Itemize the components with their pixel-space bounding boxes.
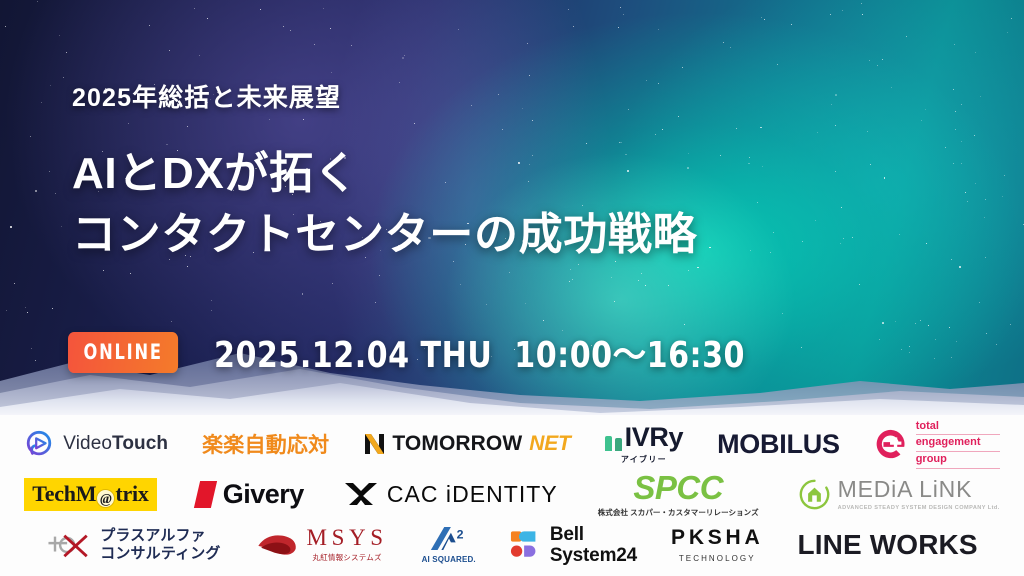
logo-pksha-technology[interactable]: PKSHA TECHNOLOGY [671,527,763,563]
logo-teg-line-1: total [916,420,1000,436]
at-sign-icon: @ [96,489,115,508]
logo-spcc-text: SPCC [633,471,723,504]
logo-techmatrix[interactable]: TechM@trix [24,478,156,511]
logo-techmatrix-text: TechM@trix [32,481,148,508]
red-slash-icon [194,481,217,508]
logo-media-link-text-block: MEDiA LiNK ADVANCED STEADY SYSTEM DESIGN… [838,478,1000,511]
logo-line-works[interactable]: LINE WORKS [797,529,977,561]
hero-title: AIとDXが拓く コンタクトセンターの成功戦略 [72,144,697,265]
logo-media-link-text: MEDiA LiNK [838,478,1000,501]
logo-givery[interactable]: Givery [197,479,304,510]
hero-kicker: 2025年総括と未来展望 [72,78,697,114]
logo-spcc-sub: 株式会社 スカパー・カスタマーリレーションズ [598,507,759,518]
sponsor-row-3: プラスアルファ コンサルティング MSYS 丸紅情報システムズ [0,520,1024,570]
logo-teg-line-3: group [916,453,1000,469]
logo-msys[interactable]: MSYS 丸紅情報システムズ [255,526,388,563]
a-squared-icon: 2 [428,525,470,552]
logo-total-engagement-group[interactable]: total engagement group [874,420,1000,469]
hero-title-line2: コンタクトセンターの成功戦略 [72,205,697,266]
plus-x-icon [46,531,92,559]
logo-msys-text-block: MSYS 丸紅情報システムズ [307,526,388,563]
event-datetime: 2025.12.04 THU 10:00〜16:30 [214,326,745,378]
logo-media-link[interactable]: MEDiA LiNK ADVANCED STEADY SYSTEM DESIGN… [799,478,1000,511]
logo-net-text: NET [529,432,570,456]
logo-tomorrow-net[interactable]: TOMORROW NET [363,432,570,456]
logo-videotouch-text: VideoTouch [63,433,168,455]
online-badge: ONLINE [68,332,178,373]
logo-mobilus[interactable]: MOBILUS [717,429,840,460]
logo-ai-squared[interactable]: 2 AI SQUARED. [422,525,476,564]
hero-text-block: 2025年総括と未来展望 AIとDXが拓く コンタクトセンターの成功戦略 [72,78,697,265]
sponsor-row-2: TechM@trix Givery CAC iDENTITY SPCC 株式会社… [0,469,1024,519]
leaf-icon [615,438,622,451]
logo-pksha-text: PKSHA [671,527,763,548]
logo-msys-sub: 丸紅情報システムズ [312,552,381,563]
e-plus-icon [874,427,908,461]
logo-bell-text: Bell System24 [550,524,637,567]
leaf-icon [605,436,612,451]
logo-plus-alpha-consulting[interactable]: プラスアルファ コンサルティング [46,527,220,564]
logo-rakuraku-jidou-outai[interactable]: 楽楽自動応対 [202,429,329,459]
logo-plus-alpha-line2: コンサルティング [100,545,220,563]
logo-plus-alpha-text: プラスアルファ コンサルティング [100,527,220,564]
hero-title-line1: AIとDXが拓く [72,144,697,205]
logo-spcc[interactable]: SPCC 株式会社 スカパー・カスタマーリレーションズ [598,471,759,518]
play-circle-icon [24,429,54,459]
circle-arrow-icon [799,479,830,510]
tomorrownet-n-icon [363,432,385,456]
logo-plus-alpha-line1: プラスアルファ [100,527,220,545]
logo-bell-line1: Bell [550,524,637,545]
event-datebar: ONLINE 2025.12.04 THU 10:00〜16:30 [68,326,785,378]
logo-ivry-upper: IVRy [605,424,683,451]
logo-videotouch[interactable]: VideoTouch [24,429,168,459]
logo-cac-identity[interactable]: CAC iDENTITY [344,481,558,508]
four-dots-icon [510,529,542,560]
logo-ivry-text: IVRy [625,424,683,451]
logo-ivry-sub: アイブリー [621,454,667,465]
logo-msys-text: MSYS [307,526,388,549]
logo-ai-squared-sub: AI SQUARED. [422,555,476,564]
logo-givery-text: Givery [223,479,304,510]
logo-ivry[interactable]: IVRy アイブリー [605,424,683,465]
hero-section: 2025年総括と未来展望 AIとDXが拓く コンタクトセンターの成功戦略 ONL… [0,0,1024,415]
logo-media-link-sub: ADVANCED STEADY SYSTEM DESIGN COMPANY Lt… [838,505,1000,511]
logo-tomorrow-text: TOMORROW [392,432,522,456]
svg-text:2: 2 [456,528,463,542]
logo-bell-line2: System24 [550,545,637,566]
logo-pksha-sub: TECHNOLOGY [679,554,756,563]
msys-swoosh-icon [255,531,299,559]
cac-x-icon [344,481,378,507]
sponsor-logo-band: VideoTouch 楽楽自動応対 TOMORROW NET IVRy アイブリ… [0,415,1024,576]
logo-teg-lines: total engagement group [916,420,1000,469]
logo-teg-line-2: engagement [916,436,1000,452]
event-banner: 2025年総括と未来展望 AIとDXが拓く コンタクトセンターの成功戦略 ONL… [0,0,1024,576]
logo-bell-system24[interactable]: Bell System24 [510,524,637,567]
sponsor-row-1: VideoTouch 楽楽自動応対 TOMORROW NET IVRy アイブリ… [0,419,1024,469]
logo-cac-text: CAC iDENTITY [387,481,558,508]
